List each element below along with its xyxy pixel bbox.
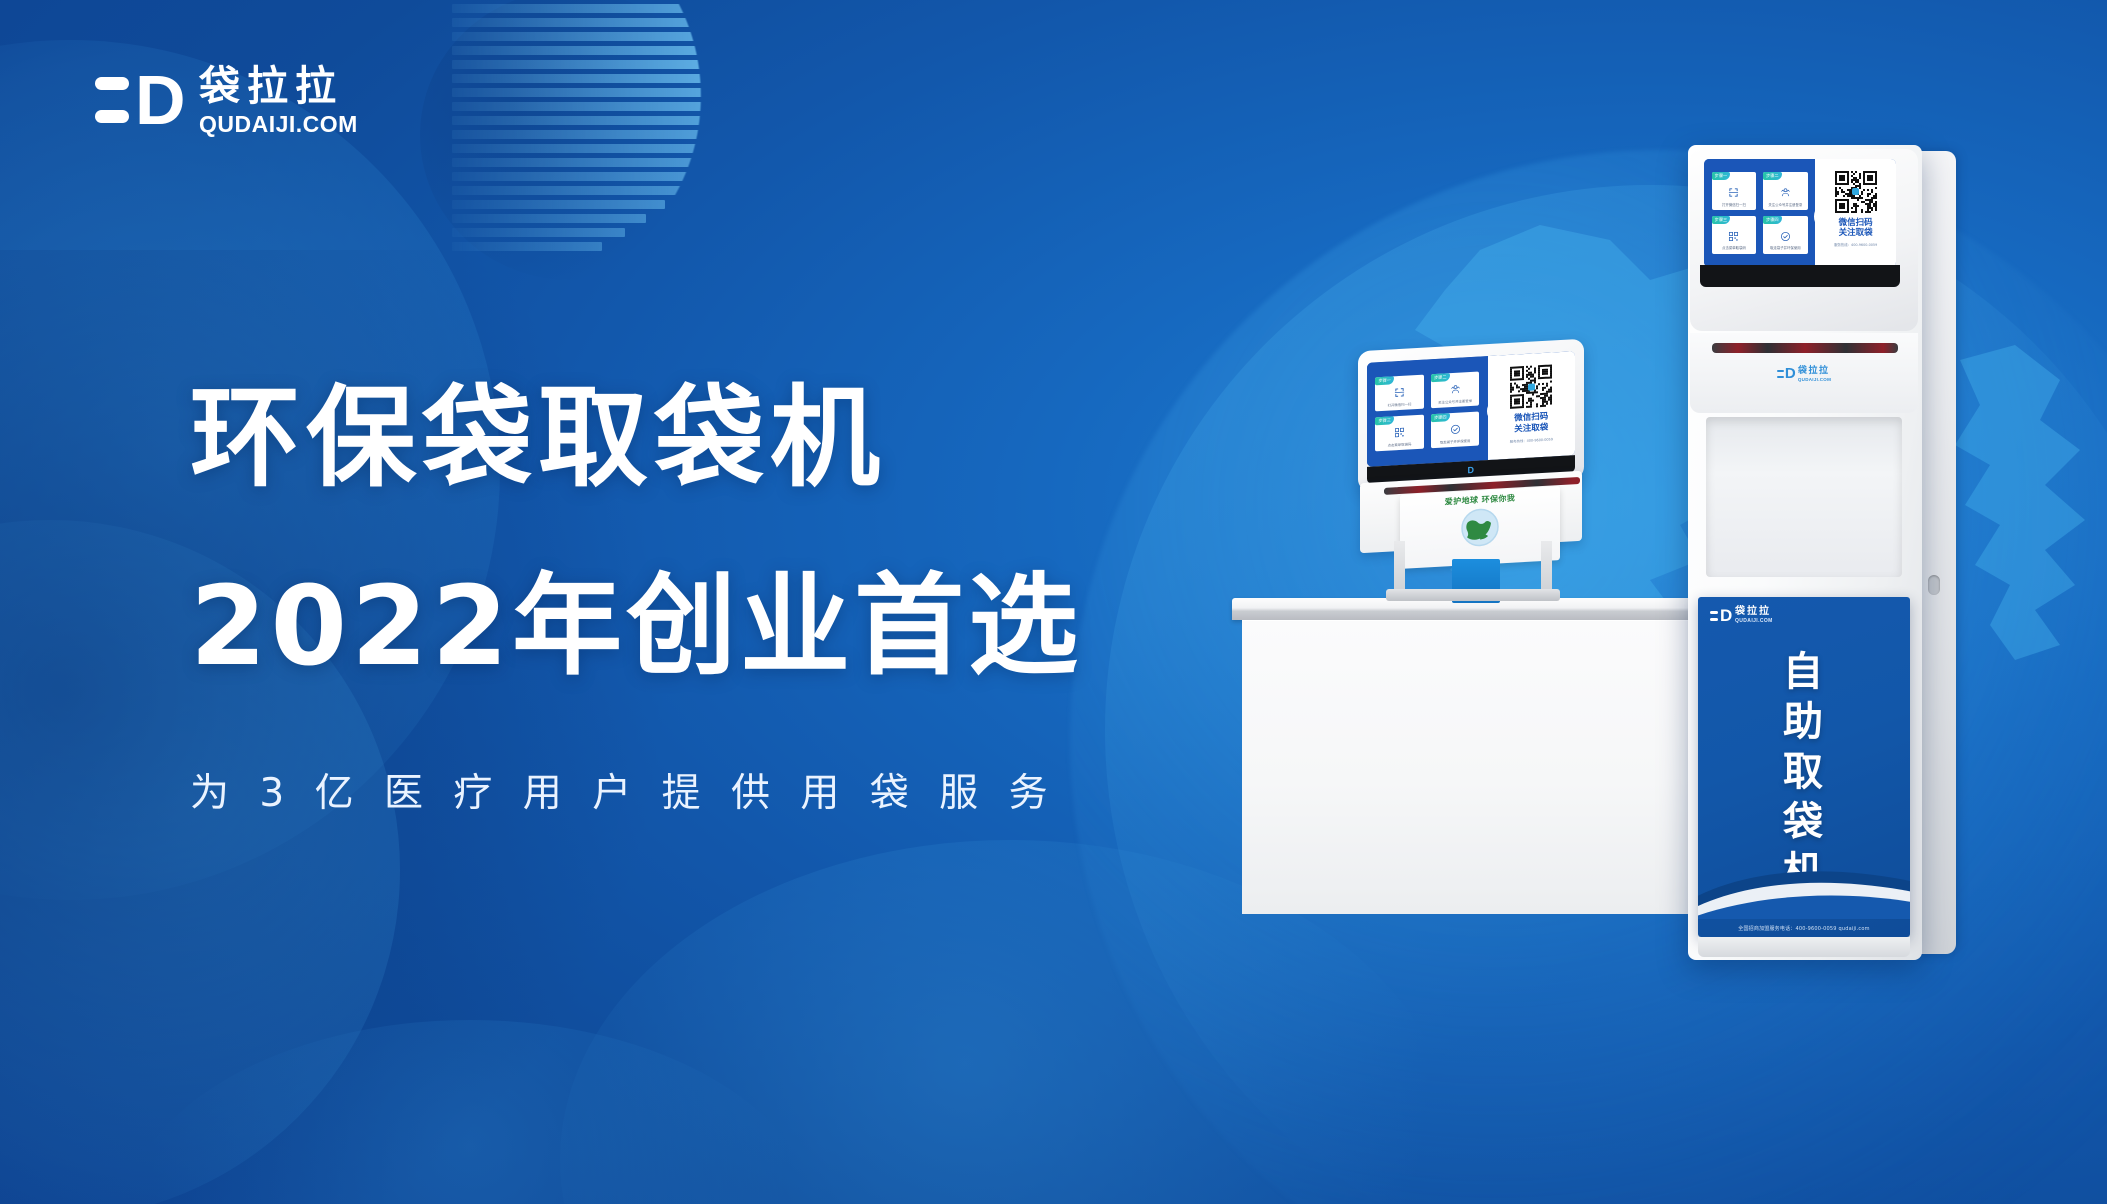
qr-center-dot xyxy=(1852,188,1859,195)
stripe-bar xyxy=(452,88,751,97)
kiosk-side-port xyxy=(1928,575,1940,595)
screen-step-card[interactable]: 步骤四取走袋子并环保使用 xyxy=(1431,411,1479,449)
headline-line-1: 环保袋取袋机 xyxy=(190,372,1082,504)
brand-logo[interactable]: D 袋拉拉 QUDAIJI.COM xyxy=(95,62,358,137)
bezel-logo: D xyxy=(1468,464,1475,474)
step-text: 关注公众号并注册登录 xyxy=(1438,400,1472,406)
step-text: 点击菜单取袋码 xyxy=(1388,443,1412,448)
logo-dash-bottom xyxy=(95,110,129,123)
wechat-qr-code[interactable] xyxy=(1510,365,1552,409)
stripe-bar xyxy=(452,172,698,181)
kiosk-dispense-slot xyxy=(1712,343,1898,353)
screen-title-line-2: 关注取袋 xyxy=(1514,423,1548,436)
step-grid: 步骤一打开微信扫一扫步骤二关注公众号并注册登录步骤三点击菜单取袋码步骤四取走袋子… xyxy=(1712,172,1808,253)
stripe-bar xyxy=(452,46,747,55)
stand-leg-left xyxy=(1394,541,1405,593)
step-tag: 步骤二 xyxy=(1431,373,1450,382)
step-tag: 步骤三 xyxy=(1375,416,1394,425)
screen-step-card[interactable]: 步骤二关注公众号并注册登录 xyxy=(1431,371,1479,409)
striped-half-disc xyxy=(452,0,812,282)
stripe-bar xyxy=(452,18,733,27)
kiosk-pickup-cavity xyxy=(1706,417,1902,577)
step-tag: 步骤三 xyxy=(1712,216,1731,224)
panel-footer-text: 全国招商加盟服务电话：400-9600-0059 qudaiji.com xyxy=(1698,925,1910,932)
panel-title-char-0: 自 xyxy=(1698,647,1910,697)
kiosk-brand-mark-icon: D xyxy=(1777,368,1794,382)
kiosk-brand-en: QUDAIJI.COM xyxy=(1798,378,1831,383)
stripe-bar xyxy=(452,200,665,209)
kiosk-base xyxy=(1698,937,1910,957)
step-tag: 步骤一 xyxy=(1712,172,1731,180)
screen-step-card[interactable]: 步骤一打开微信扫一扫 xyxy=(1375,374,1423,412)
stripe-bar xyxy=(452,4,724,13)
screen-step-card[interactable]: 步骤三点击菜单取袋码 xyxy=(1712,216,1757,254)
step-tag: 步骤一 xyxy=(1375,376,1394,385)
desktop-dispenser-unit: 步骤一打开微信扫一扫步骤二关注公众号并注册登录步骤三点击菜单取袋码步骤四取走袋子… xyxy=(1350,345,1600,605)
panel-brand-logo: D 袋拉拉 QUDAIJI.COM xyxy=(1710,607,1773,624)
screen-steps-pane: 步骤一打开微信扫一扫步骤二关注公众号并注册登录步骤三点击菜单取袋码步骤四取走袋子… xyxy=(1704,159,1815,267)
stripe-bar xyxy=(452,214,646,223)
panel-title-char-2: 取 xyxy=(1698,747,1910,797)
panel-brand-cn: 袋拉拉 xyxy=(1735,607,1773,617)
panel-title-char-3: 袋 xyxy=(1698,797,1910,847)
get-bag-icon xyxy=(1450,423,1461,440)
scan-code-icon xyxy=(1728,186,1739,202)
screen-steps-pane: 步骤一打开微信扫一扫步骤二关注公众号并注册登录步骤三点击菜单取袋码步骤四取走袋子… xyxy=(1367,356,1488,467)
counter-desk xyxy=(1232,598,1760,914)
get-bag-icon xyxy=(1780,230,1791,246)
kiosk-touch-screen[interactable]: 步骤一打开微信扫一扫步骤二关注公众号并注册登录步骤三点击菜单取袋码步骤四取走袋子… xyxy=(1704,159,1896,267)
panel-swoosh-decor xyxy=(1698,849,1910,919)
follow-account-icon xyxy=(1450,383,1461,400)
stripe-bar xyxy=(452,158,712,167)
panel-brand-mark-icon: D xyxy=(1710,608,1730,624)
qr-center-dot xyxy=(1528,384,1535,391)
step-text: 点击菜单取袋码 xyxy=(1722,247,1746,251)
qr-scan-icon xyxy=(1728,230,1739,246)
step-text: 打开微信扫一扫 xyxy=(1722,204,1746,208)
desktop-unit-stand xyxy=(1386,541,1560,607)
step-grid: 步骤一打开微信扫一扫步骤二关注公众号并注册登录步骤三点击菜单取袋码步骤四取走袋子… xyxy=(1375,371,1479,452)
qr-scan-icon xyxy=(1394,426,1405,443)
stripe-bar xyxy=(452,74,752,83)
brand-name-en: QUDAIJI.COM xyxy=(199,111,358,137)
screen-title-line-2: 关注取袋 xyxy=(1839,228,1873,239)
stripe-bar xyxy=(452,32,741,41)
screen-notch xyxy=(1487,404,1494,419)
step-tag: 步骤二 xyxy=(1763,172,1782,180)
step-tag: 步骤四 xyxy=(1431,413,1450,422)
stripe-bar xyxy=(452,228,625,237)
brand-name-cn: 袋拉拉 xyxy=(199,64,358,108)
screen-step-card[interactable]: 步骤一打开微信扫一扫 xyxy=(1712,172,1757,210)
counter-desk-face xyxy=(1242,620,1750,914)
step-text: 取走袋子并环保使用 xyxy=(1770,247,1801,251)
stripe-bar xyxy=(452,116,741,125)
panel-title-char-1: 助 xyxy=(1698,697,1910,747)
stripe-bar xyxy=(452,144,724,153)
screen-qr-pane: 微信扫码关注取袋服务热线：400-9600-0059 xyxy=(1815,159,1896,267)
logo-dash-top xyxy=(95,77,129,90)
kiosk-screen-chin xyxy=(1700,265,1900,287)
floor-standing-kiosk: 步骤一打开微信扫一扫步骤二关注公众号并注册登录步骤三点击菜单取袋码步骤四取走袋子… xyxy=(1688,145,1958,960)
screen-qr-pane: 微信扫码关注取袋服务热线：400-9600-0059 xyxy=(1488,351,1575,460)
screen-step-card[interactable]: 步骤三点击菜单取袋码 xyxy=(1375,414,1423,452)
screen-step-card[interactable]: 步骤四取走袋子并环保使用 xyxy=(1763,216,1808,254)
kiosk-brand-cn: 袋拉拉 xyxy=(1798,367,1831,376)
stripe-bar xyxy=(452,60,751,69)
step-text: 打开微信扫一扫 xyxy=(1388,403,1412,408)
screen-notch xyxy=(1814,209,1820,224)
follow-account-icon xyxy=(1780,186,1791,202)
screen-step-card[interactable]: 步骤二关注公众号并注册登录 xyxy=(1763,172,1808,210)
brand-logo-text: 袋拉拉 QUDAIJI.COM xyxy=(199,62,358,137)
kiosk-graphic-panel: D 袋拉拉 QUDAIJI.COM 自助取袋机 全国招商加盟服务电话：400-9… xyxy=(1698,597,1910,937)
screen-service-line: 服务热线：400-9600-0059 xyxy=(1834,242,1877,247)
desktop-unit-screen[interactable]: 步骤一打开微信扫一扫步骤二关注公众号并注册登录步骤三点击菜单取袋码步骤四取走袋子… xyxy=(1367,351,1575,467)
step-tag: 步骤四 xyxy=(1763,216,1782,224)
scan-code-icon xyxy=(1394,386,1405,403)
subheadline: 为 3 亿 医 疗 用 户 提 供 用 袋 服 务 xyxy=(190,770,1082,818)
qudaiji-d-mark-icon: D xyxy=(95,63,181,137)
kiosk-column: 步骤一打开微信扫一扫步骤二关注公众号并注册登录步骤三点击菜单取袋码步骤四取走袋子… xyxy=(1688,145,1922,960)
kiosk-brand-strip: D 袋拉拉 QUDAIJI.COM xyxy=(1690,367,1918,387)
stripe-bar xyxy=(452,130,733,139)
hero-banner: D 袋拉拉 QUDAIJI.COM 环保袋取袋机 2022年创业首选 为 3 亿… xyxy=(0,0,2107,1204)
screen-title-line-1: 微信扫码 xyxy=(1839,218,1873,229)
kiosk-dispense-area: D 袋拉拉 QUDAIJI.COM xyxy=(1690,333,1918,413)
wechat-qr-code[interactable] xyxy=(1835,171,1877,213)
stripe-bar xyxy=(452,186,683,195)
headline-line-2: 2022年创业首选 xyxy=(190,560,1082,692)
logo-letter-d: D xyxy=(135,68,185,132)
stripe-bar xyxy=(452,242,602,251)
screen-service-line: 服务热线：400-9600-0059 xyxy=(1510,436,1553,443)
hero-copy: 环保袋取袋机 2022年创业首选 为 3 亿 医 疗 用 户 提 供 用 袋 服… xyxy=(190,372,1082,818)
step-text: 关注公众号并注册登录 xyxy=(1768,204,1802,208)
stand-base xyxy=(1386,589,1560,601)
stripe-bar xyxy=(452,102,747,111)
stand-leg-right xyxy=(1541,541,1552,593)
panel-brand-en: QUDAIJI.COM xyxy=(1735,619,1773,624)
step-text: 取走袋子并环保使用 xyxy=(1440,440,1471,445)
